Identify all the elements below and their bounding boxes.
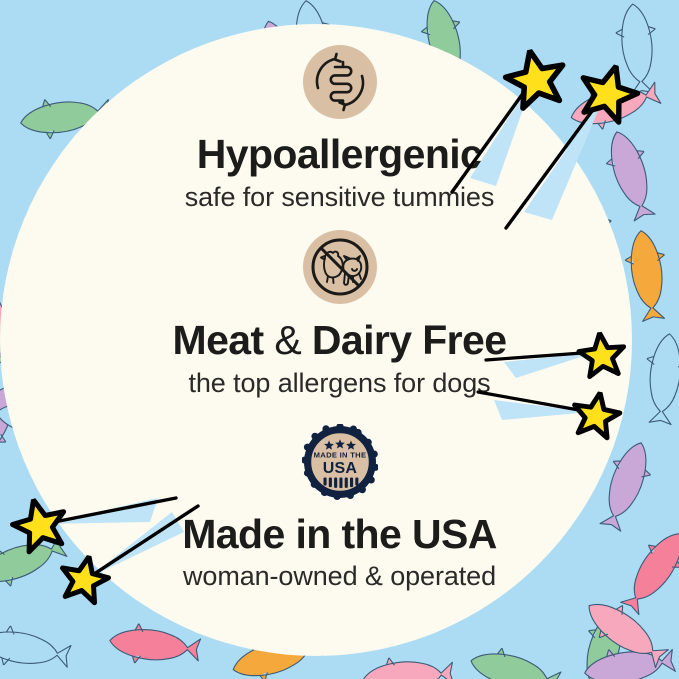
promo-graphic: Hypoallergenic safe for sensitive tummie…: [0, 0, 679, 679]
shooting-stars-layer: [0, 0, 679, 679]
shooting-star: [452, 45, 570, 192]
shooting-star: [478, 389, 623, 439]
shooting-star: [486, 331, 626, 378]
